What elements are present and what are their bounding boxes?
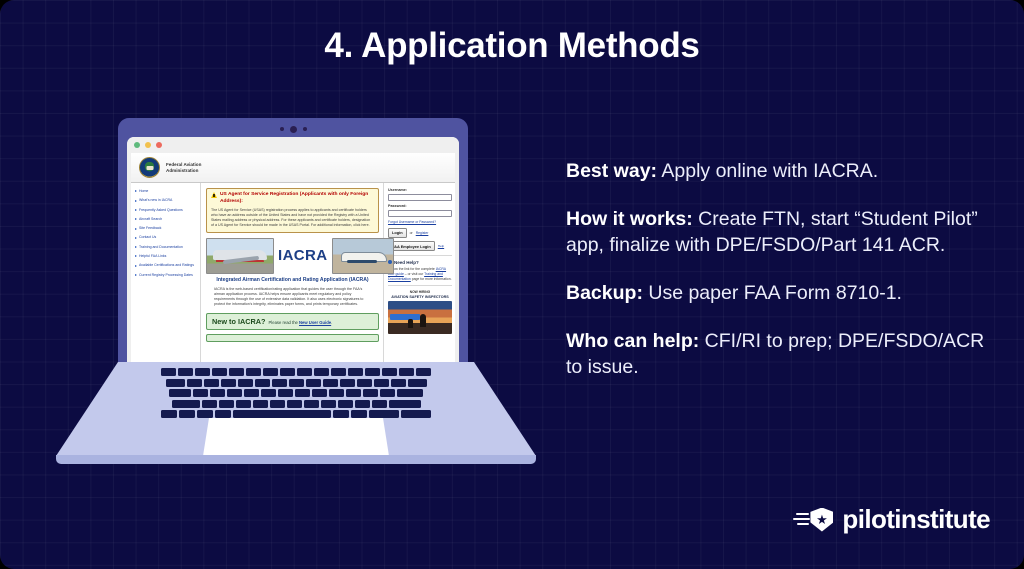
brand-logo: ★ pilotinstitute: [793, 504, 990, 535]
rail-divider: [388, 255, 452, 256]
slide-canvas: 4. Application Methods: [0, 0, 1024, 569]
point-how-it-works-label: How it works:: [566, 208, 693, 230]
login-rail: Username: Password: Forgot Username or P…: [383, 183, 455, 367]
rail-divider-2: [388, 285, 452, 286]
hiring-line2: AVIATION SAFETY INSPECTORS: [388, 295, 452, 299]
warning-triangle-icon: [211, 192, 217, 198]
hiring-banner-image[interactable]: [388, 301, 452, 334]
page-columns: Home What's new in IACRA Frequently Aske…: [131, 183, 455, 367]
sidebar-item-aircraft-search[interactable]: Aircraft Search: [135, 217, 197, 222]
keyboard-row: [126, 368, 466, 376]
new-user-guide-link[interactable]: New User Guide: [299, 320, 331, 325]
iacra-wordmark: IACRA: [278, 247, 328, 264]
point-who-can-help-label: Who can help:: [566, 330, 699, 352]
employee-login-row: FAA Employee Login Help: [388, 241, 452, 251]
minimize-icon[interactable]: [145, 142, 151, 148]
login-or-text: or: [410, 231, 413, 235]
faa-masthead: Federal Aviation Administration: [131, 153, 455, 183]
twin-engine-aircraft-photo: [332, 238, 394, 274]
faa-employee-login-button[interactable]: FAA Employee Login: [388, 241, 435, 251]
shield-icon: ★: [810, 508, 833, 532]
new-to-iacra-period: .: [331, 320, 332, 325]
keyboard-row-bottom: [126, 410, 466, 418]
browser-titlebar: [127, 137, 459, 153]
iacra-description: IACRA is the web-based certification/rat…: [206, 287, 379, 308]
faa-agency-name: Federal Aviation Administration: [166, 162, 201, 174]
point-best-way: Best way: Apply online with IACRA.: [566, 158, 996, 184]
maximize-icon[interactable]: [156, 142, 162, 148]
laptop-trackpad[interactable]: [203, 418, 389, 456]
password-label: Password:: [388, 204, 452, 208]
keyboard-row: [126, 379, 466, 387]
wing-icon: [793, 513, 810, 529]
keyboard-row: [126, 400, 466, 408]
password-input[interactable]: [388, 210, 452, 218]
need-help-heading: Need Help?: [388, 260, 452, 265]
login-button[interactable]: Login: [388, 228, 407, 238]
iacra-webpage: Federal Aviation Administration Home Wha…: [131, 153, 455, 367]
laptop-keyboard: [126, 368, 466, 408]
sidebar-item-certifications-ratings[interactable]: Available Certifications and Ratings: [135, 263, 197, 268]
new-to-iacra-prefix: Please read the: [269, 320, 300, 325]
browser-window: Federal Aviation Administration Home Wha…: [127, 137, 459, 367]
point-best-way-label: Best way:: [566, 160, 657, 182]
need-help-line1: Follow the link for the complete: [388, 267, 436, 271]
register-link[interactable]: Register: [416, 231, 429, 235]
bullet-points: Best way: Apply online with IACRA. How i…: [566, 158, 996, 380]
page-title: 4. Application Methods: [0, 26, 1024, 66]
alert-heading: US Agent for Service Registration (Appli…: [211, 192, 374, 205]
need-help-line3: page for more information.: [411, 277, 452, 281]
info-circle-icon: [388, 260, 392, 264]
login-button-row: Login or Register: [388, 228, 452, 238]
laptop-lid: Federal Aviation Administration Home Wha…: [118, 118, 468, 370]
need-help-body: Follow the link for the complete IACRA u…: [388, 267, 452, 281]
iacra-caption: Integrated Airman Certification and Rati…: [206, 277, 379, 284]
webcam-dots: [118, 125, 468, 133]
main-content: US Agent for Service Registration (Appli…: [201, 183, 383, 367]
webcam-lens-icon: [290, 126, 297, 133]
new-to-iacra-heading: New to IACRA?: [212, 317, 266, 326]
webcam-dot-right: [303, 127, 307, 131]
faa-agency-line2: Administration: [166, 168, 201, 174]
brand-name: pilotinstitute: [842, 504, 990, 535]
sidebar-item-site-feedback[interactable]: Site Feedback: [135, 226, 197, 231]
airliner-photo: [206, 238, 274, 274]
sidebar-item-contact-us[interactable]: Contact Us: [135, 235, 197, 240]
usas-alert-banner: US Agent for Service Registration (Appli…: [206, 188, 379, 233]
point-backup-label: Backup:: [566, 282, 643, 304]
help-link[interactable]: Help: [438, 244, 444, 248]
new-to-iacra-text: Please read the New User Guide.: [269, 320, 333, 325]
new-to-iacra-box: New to IACRA? Please read the New User G…: [206, 313, 379, 330]
username-label: Username:: [388, 188, 452, 192]
laptop-base: [56, 362, 536, 456]
sidebar-item-home[interactable]: Home: [135, 189, 197, 194]
username-input[interactable]: [388, 194, 452, 202]
sidebar-item-registry-dates[interactable]: Current Registry Processing Dates: [135, 273, 197, 278]
sidebar-item-whats-new[interactable]: What's new in IACRA: [135, 198, 197, 203]
need-help-line2: – or visit our: [404, 272, 424, 276]
secondary-green-box: [206, 334, 379, 342]
sidebar-item-helpful-faa-links[interactable]: Helpful FAA Links: [135, 254, 197, 259]
alert-heading-text: US Agent for Service Registration (Appli…: [220, 192, 368, 204]
point-how-it-works: How it works: Create FTN, start “Student…: [566, 206, 996, 258]
faa-agency-line1: Federal Aviation: [166, 162, 201, 168]
point-best-way-text: Apply online with IACRA.: [657, 160, 878, 182]
alert-body-text: The US Agent for Service (USAS) registra…: [211, 208, 374, 229]
forgot-credentials-link[interactable]: Forgot Username or Password?: [388, 220, 452, 224]
laptop-front-edge: [56, 455, 536, 464]
star-icon: ★: [816, 513, 828, 526]
hiring-line1: NOW HIRING: [388, 290, 452, 294]
winged-shield-star-logo: ★: [793, 507, 833, 533]
site-sidebar: Home What's new in IACRA Frequently Aske…: [131, 183, 201, 367]
sidebar-item-faq[interactable]: Frequently Asked Questions: [135, 208, 197, 213]
point-backup-text: Use paper FAA Form 8710-1.: [643, 282, 902, 304]
laptop-illustration: Federal Aviation Administration Home Wha…: [56, 118, 536, 470]
point-who-can-help: Who can help: CFI/RI to prep; DPE/FSDO/A…: [566, 328, 996, 380]
iacra-hero: IACRA: [206, 238, 379, 274]
webcam-dot-left: [280, 127, 284, 131]
faa-seal-icon: [139, 157, 160, 178]
hiring-banner-chip: [390, 314, 420, 320]
sidebar-item-training-docs[interactable]: Training and Documentation: [135, 245, 197, 250]
need-help-heading-text: Need Help?: [394, 260, 419, 265]
keyboard-row: [126, 389, 466, 397]
point-backup: Backup: Use paper FAA Form 8710-1.: [566, 280, 996, 306]
close-icon[interactable]: [134, 142, 140, 148]
